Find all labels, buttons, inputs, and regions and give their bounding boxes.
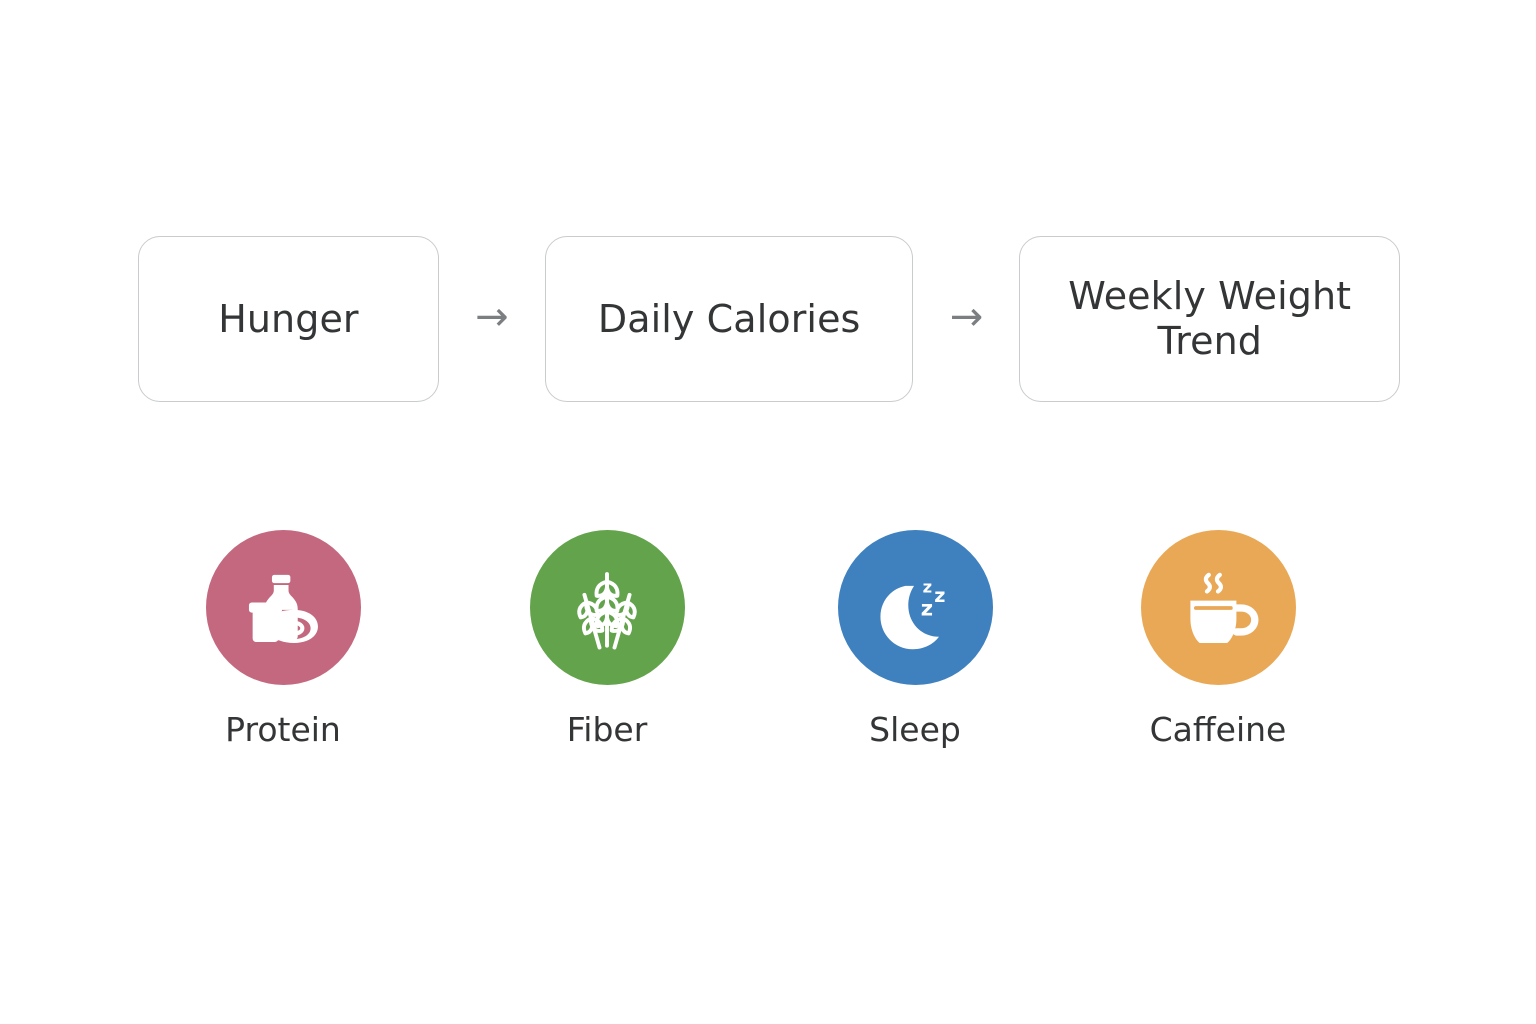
factor-protein[interactable]: Protein: [183, 530, 383, 746]
svg-text:z: z: [934, 584, 945, 607]
process-flow-row: Hunger → Daily Calories → Weekly Weight …: [138, 236, 1400, 402]
coffee-cup-steam-icon: [1172, 562, 1264, 654]
flow-arrow-2: →: [913, 297, 1019, 337]
factor-label-sleep: Sleep: [869, 713, 961, 746]
factor-label-protein: Protein: [225, 713, 341, 746]
flow-node-label: Hunger: [204, 297, 372, 342]
factor-caffeine[interactable]: Caffeine: [1118, 530, 1318, 746]
flow-node-hunger[interactable]: Hunger: [138, 236, 439, 402]
svg-text:z: z: [921, 595, 933, 620]
factor-icons-row: Protein: [140, 530, 1380, 780]
protein-milk-meat-icon: [237, 562, 329, 654]
crescent-moon-zzz-icon: z z z: [867, 560, 963, 656]
factor-sleep[interactable]: z z z Sleep: [815, 530, 1015, 746]
factor-circle-fiber[interactable]: [530, 530, 685, 685]
factor-fiber[interactable]: Fiber: [507, 530, 707, 746]
factor-label-caffeine: Caffeine: [1150, 713, 1287, 746]
factor-circle-sleep[interactable]: z z z: [838, 530, 993, 685]
flow-node-label: Daily Calories: [584, 297, 875, 342]
flow-node-daily-calories[interactable]: Daily Calories: [545, 236, 914, 402]
flow-node-label: Weekly Weight Trend: [1020, 274, 1399, 364]
svg-text:z: z: [923, 577, 933, 596]
factor-circle-protein[interactable]: [206, 530, 361, 685]
flow-node-weekly-weight-trend[interactable]: Weekly Weight Trend: [1019, 236, 1400, 402]
wheat-stalks-icon: [560, 561, 654, 655]
factor-circle-caffeine[interactable]: [1141, 530, 1296, 685]
factor-label-fiber: Fiber: [567, 713, 648, 746]
flow-arrow-1: →: [439, 297, 545, 337]
